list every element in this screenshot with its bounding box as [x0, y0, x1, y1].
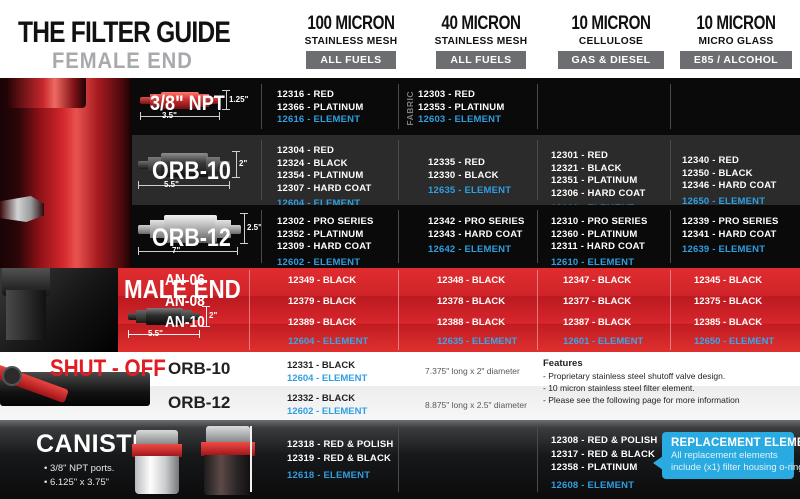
canister-section: CANISTER • 3/8" NPT ports. • 6.125" x 3.… — [0, 420, 800, 499]
column-header-40-micron: 40 MICRON STAINLESS MESH ALL FUELS — [415, 14, 547, 69]
shutoff-size-orb12: ORB-12 — [168, 393, 230, 413]
male-cell-c1r3: 12389 - BLACK — [288, 317, 356, 328]
male-cell-c2r1: 12348 - BLACK — [437, 275, 505, 286]
male-cell-c4-element: 12650 - ELEMENT — [694, 336, 774, 347]
male-end-size-an08: AN-08 — [165, 293, 205, 311]
cell-orb12-100micron: 12302 - PRO SERIES 12352 - PLATINUM 1230… — [277, 216, 374, 269]
male-cell-c1r2: 12379 - BLACK — [288, 296, 356, 307]
canister-bullet-1: • 3/8" NPT ports. — [44, 462, 114, 476]
cell-npt-40micron: 12303 - RED 12353 - PLATINUM 12603 - ELE… — [418, 89, 504, 127]
column-header-100-micron: 100 MICRON STAINLESS MESH ALL FUELS — [285, 14, 417, 69]
page-title: THE FILTER GUIDE — [18, 16, 230, 50]
row-label-npt: 3/8" NPT — [150, 92, 225, 116]
shutoff-label: SHUT - OFF — [50, 355, 166, 383]
fuel-badge: E85 / ALCOHOL — [680, 51, 792, 69]
shutoff-dims-orb10: 7.375" long x 2" diameter — [425, 366, 520, 376]
shutoff-size-orb10: ORB-10 — [168, 359, 230, 379]
cell-orb10-40micron: 12335 - RED 12330 - BLACK 12635 - ELEMEN… — [428, 157, 511, 198]
orb12-diameter-dim: 2.5" — [247, 223, 262, 232]
orb10-diameter-dim: 2" — [239, 159, 247, 168]
fuel-badge: ALL FUELS — [436, 51, 525, 69]
cell-orb12-10micron-cellulose: 12310 - PRO SERIES 12360 - PLATINUM 1231… — [551, 216, 648, 269]
fuel-badge: GAS & DIESEL — [558, 51, 665, 69]
shutoff-parts-orb10: 12331 - BLACK 12604 - ELEMENT — [287, 360, 367, 385]
female-end-subtitle: FEMALE END — [52, 48, 193, 74]
callout-tail — [653, 456, 663, 470]
row-label-orb12: ORB-12 — [152, 224, 231, 253]
canister-photo-black — [196, 426, 262, 496]
male-end-size-an10: AN-10 — [165, 314, 205, 332]
cell-orb12-40micron: 12342 - PRO SERIES 12343 - HARD COAT 126… — [428, 216, 525, 257]
callout-title: REPLACEMENT ELEMENTS — [662, 432, 794, 449]
fabric-label: FABRIC — [405, 91, 415, 126]
male-end-product-photo — [0, 268, 118, 352]
callout-body: All replacement elements include (x1) fi… — [662, 449, 794, 479]
cell-orb10-10micron-micro-glass: 12340 - RED 12350 - BLACK 12346 - HARD C… — [682, 155, 777, 208]
replacement-elements-callout: REPLACEMENT ELEMENTS All replacement ele… — [662, 432, 794, 479]
canister-parts-col3: 12308 - RED & POLISH 12317 - RED & BLACK… — [551, 434, 657, 492]
male-cell-c1-element: 12604 - ELEMENT — [288, 336, 368, 347]
npt-diameter-dim: 1.25" — [229, 95, 248, 104]
shutoff-features: Features - Proprietary stainless steel s… — [543, 358, 740, 406]
male-end-length-dim: 5.5" — [148, 329, 163, 338]
male-cell-c4r1: 12345 - BLACK — [694, 275, 762, 286]
male-cell-c3r2: 12377 - BLACK — [563, 296, 631, 307]
male-end-diameter-dim: 2" — [209, 311, 217, 320]
row-label-orb10: ORB-10 — [152, 157, 231, 186]
cell-npt-100micron: 12316 - RED 12366 - PLATINUM 12616 - ELE… — [277, 89, 363, 127]
column-header-10-micron-micro-glass: 10 MICRON MICRO GLASS E85 / ALCOHOL — [672, 14, 800, 69]
page-header: THE FILTER GUIDE FEMALE END 100 MICRON S… — [0, 0, 800, 78]
shutoff-dims-orb12: 8.875" long x 2.5" diameter — [425, 400, 527, 410]
male-end-section: MALE END 5.5" 2" AN-06 AN-08 AN-10 12349… — [0, 268, 800, 352]
male-cell-c2r2: 12378 - BLACK — [437, 296, 505, 307]
column-header-10-micron-cellulose: 10 MICRON CELLULOSE GAS & DIESEL — [545, 14, 677, 69]
male-cell-c3r1: 12347 - BLACK — [563, 275, 631, 286]
male-end-size-an06: AN-06 — [165, 272, 205, 290]
male-cell-c2-element: 12635 - ELEMENT — [437, 336, 517, 347]
filter-guide-page: THE FILTER GUIDE FEMALE END 100 MICRON S… — [0, 0, 800, 499]
male-cell-c4r3: 12385 - BLACK — [694, 317, 762, 328]
male-cell-c3r3: 12387 - BLACK — [563, 317, 631, 328]
male-cell-c2r3: 12388 - BLACK — [437, 317, 505, 328]
male-cell-c3-element: 12601 - ELEMENT — [563, 336, 643, 347]
male-cell-c1r1: 12349 - BLACK — [288, 275, 356, 286]
canister-parts-col1: 12318 - RED & POLISH 12319 - RED & BLACK… — [287, 438, 393, 483]
cell-orb12-10micron-micro-glass: 12339 - PRO SERIES 12341 - HARD COAT 126… — [682, 216, 779, 257]
canister-bullet-2: • 6.125" x 3.75" — [44, 476, 109, 490]
male-cell-c4r2: 12375 - BLACK — [694, 296, 762, 307]
canister-photo-polish — [128, 430, 190, 496]
shutoff-parts-orb12: 12332 - BLACK 12602 - ELEMENT — [287, 393, 367, 418]
red-filter-product-photo — [0, 78, 132, 268]
fuel-badge: ALL FUELS — [306, 51, 395, 69]
